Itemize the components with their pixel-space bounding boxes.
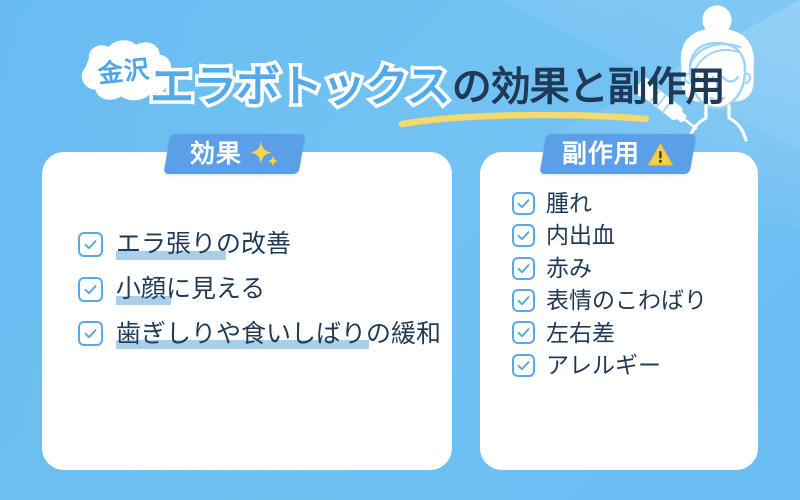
checkbox-checked-icon[interactable] — [512, 321, 535, 344]
list-item[interactable]: 左右差 — [512, 320, 758, 346]
checkbox-checked-icon[interactable] — [512, 354, 535, 377]
side-effects-card-badge: 副作用 — [539, 134, 696, 174]
list-item[interactable]: アレルギー — [512, 352, 758, 378]
page-title-highlight: エラボトックス — [150, 65, 450, 109]
checkbox-checked-icon[interactable] — [512, 192, 535, 215]
effects-badge-label: 効果 — [190, 142, 242, 167]
sparkle-icon — [249, 140, 279, 168]
checkbox-checked-icon[interactable] — [512, 224, 535, 247]
effect-item-text-3: 歯ぎしりや食いしばりの緩和 — [116, 320, 441, 349]
list-item[interactable]: 歯ぎしりや食いしばりの緩和 — [78, 320, 452, 349]
warning-triangle-icon — [647, 142, 674, 167]
effects-card: 効果 エラ張りの改善 小顔に見える — [42, 152, 452, 470]
side-effects-badge-label: 副作用 — [562, 142, 640, 167]
effects-list: エラ張りの改善 小顔に見える 歯ぎしりや食いしばりの緩和 — [42, 152, 452, 364]
side-effect-item-text-1: 腫れ — [546, 190, 592, 216]
side-effects-card: 副作用 腫れ 内出血 — [480, 152, 758, 470]
effects-card-badge: 効果 — [163, 134, 305, 174]
title-underline-icon — [398, 112, 650, 128]
checkbox-checked-icon[interactable] — [78, 277, 103, 302]
checkbox-checked-icon[interactable] — [512, 257, 535, 280]
list-item[interactable]: 内出血 — [512, 222, 758, 248]
side-effect-item-text-3: 赤み — [546, 255, 592, 281]
list-item[interactable]: 小顔に見える — [78, 275, 452, 304]
side-effect-item-text-6: アレルギー — [546, 352, 661, 378]
list-item[interactable]: 腫れ — [512, 190, 758, 216]
page-title-rest: の効果と副作用 — [452, 67, 725, 107]
checkbox-checked-icon[interactable] — [78, 321, 103, 346]
list-item[interactable]: エラ張りの改善 — [78, 230, 452, 259]
list-item[interactable]: 赤み — [512, 255, 758, 281]
side-effect-item-text-4: 表情のこわばり — [546, 287, 707, 313]
list-item[interactable]: 表情のこわばり — [512, 287, 758, 313]
checkbox-checked-icon[interactable] — [512, 289, 535, 312]
side-effect-item-text-5: 左右差 — [546, 320, 615, 346]
effect-item-text-2: 小顔に見える — [116, 275, 265, 304]
effect-item-text-1: エラ張りの改善 — [116, 230, 291, 259]
side-effects-list: 腫れ 内出血 赤み 表情のこわばり — [480, 152, 758, 385]
checkbox-checked-icon[interactable] — [78, 232, 103, 257]
page-header: 金沢 エラボトックス の効果と副作用 — [0, 0, 800, 150]
side-effect-item-text-2: 内出血 — [546, 222, 615, 248]
